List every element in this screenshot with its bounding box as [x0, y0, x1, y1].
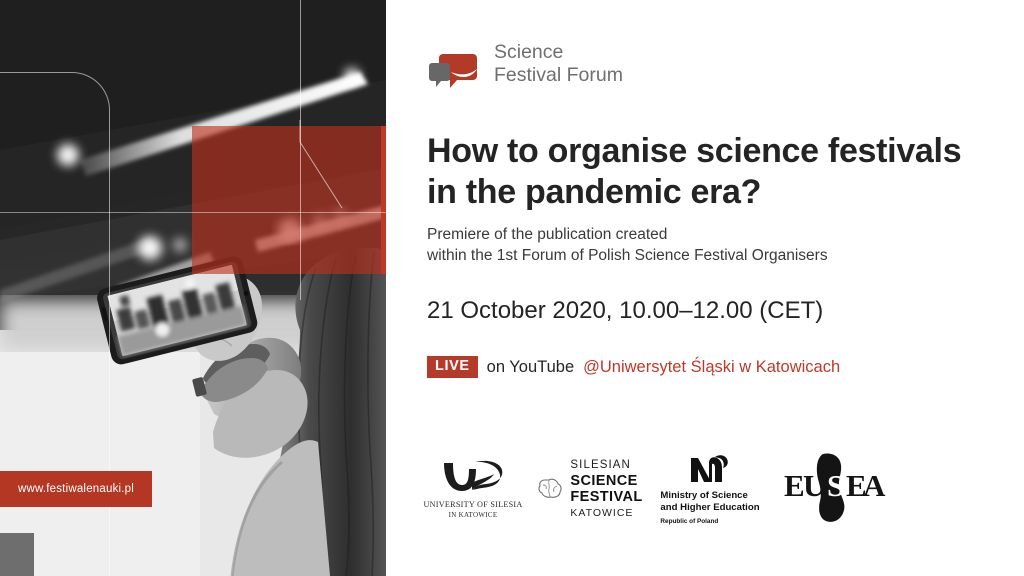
youtube-label: on YouTube [487, 356, 574, 378]
uos-line-1: UNIVERSITY OF SILESIA [423, 500, 522, 509]
logo-silesian-science-festival: SILESIAN SCIENCE FESTIVAL KATOWICE [532, 443, 648, 535]
brain-icon [537, 477, 563, 501]
livestream-info: LIVE on YouTube @Uniwersytet Śląski w Ka… [427, 356, 840, 378]
event-datetime: 21 October 2020, 10.00–12.00 (CET) [427, 296, 823, 326]
ministry-line-2: Republic of Poland [660, 518, 759, 525]
decorative-elbow-line [280, 120, 386, 220]
brand-name: Science Festival Forum [494, 41, 623, 87]
live-badge: LIVE [427, 356, 478, 378]
uos-line-2: IN KATOWICE [449, 511, 498, 519]
svg-text:A: A [863, 468, 886, 503]
website-url-text: www.festiwalenauki.pl [18, 483, 134, 495]
ministry-line-1: Ministry of Science and Higher Education [660, 490, 759, 514]
ministry-monogram-icon [689, 454, 731, 484]
partner-logos: UNIVERSITY OF SILESIA IN KATOWICE SILESI… [414, 443, 1004, 535]
page-title: How to organise science festivals in the… [427, 131, 1002, 213]
svg-text:S: S [827, 468, 845, 503]
logo-university-of-silesia: UNIVERSITY OF SILESIA IN KATOWICE [414, 443, 532, 535]
svg-text:E: E [784, 468, 805, 503]
ssf-line-4: KATOWICE [570, 508, 642, 519]
event-poster: www.festiwalenauki.pl Science Festival F… [0, 0, 1024, 576]
website-url-ribbon[interactable]: www.festiwalenauki.pl [0, 471, 152, 507]
logo-ministry-of-science: Ministry of Science and Higher Education… [648, 443, 772, 535]
photo-panel: www.festiwalenauki.pl [0, 0, 386, 576]
event-subtitle: Premiere of the publication created with… [427, 224, 1002, 266]
speech-bubbles-icon [427, 38, 480, 90]
ssf-line-1: SILESIAN [570, 460, 642, 472]
logo-eusea: E U S E A [772, 443, 890, 535]
us-monogram-icon [442, 459, 504, 495]
content-panel: Science Festival Forum How to organise s… [386, 0, 1024, 576]
ssf-line-3: FESTIVAL [570, 490, 642, 505]
youtube-handle[interactable]: @Uniwersytet Śląski w Katowicach [583, 356, 840, 378]
decorative-corner-block [0, 533, 34, 576]
svg-text:U: U [803, 468, 826, 503]
brand-lockup: Science Festival Forum [427, 38, 623, 90]
ssf-line-2: SCIENCE [570, 474, 642, 489]
eusea-blob-icon: E U S E A [776, 452, 886, 526]
